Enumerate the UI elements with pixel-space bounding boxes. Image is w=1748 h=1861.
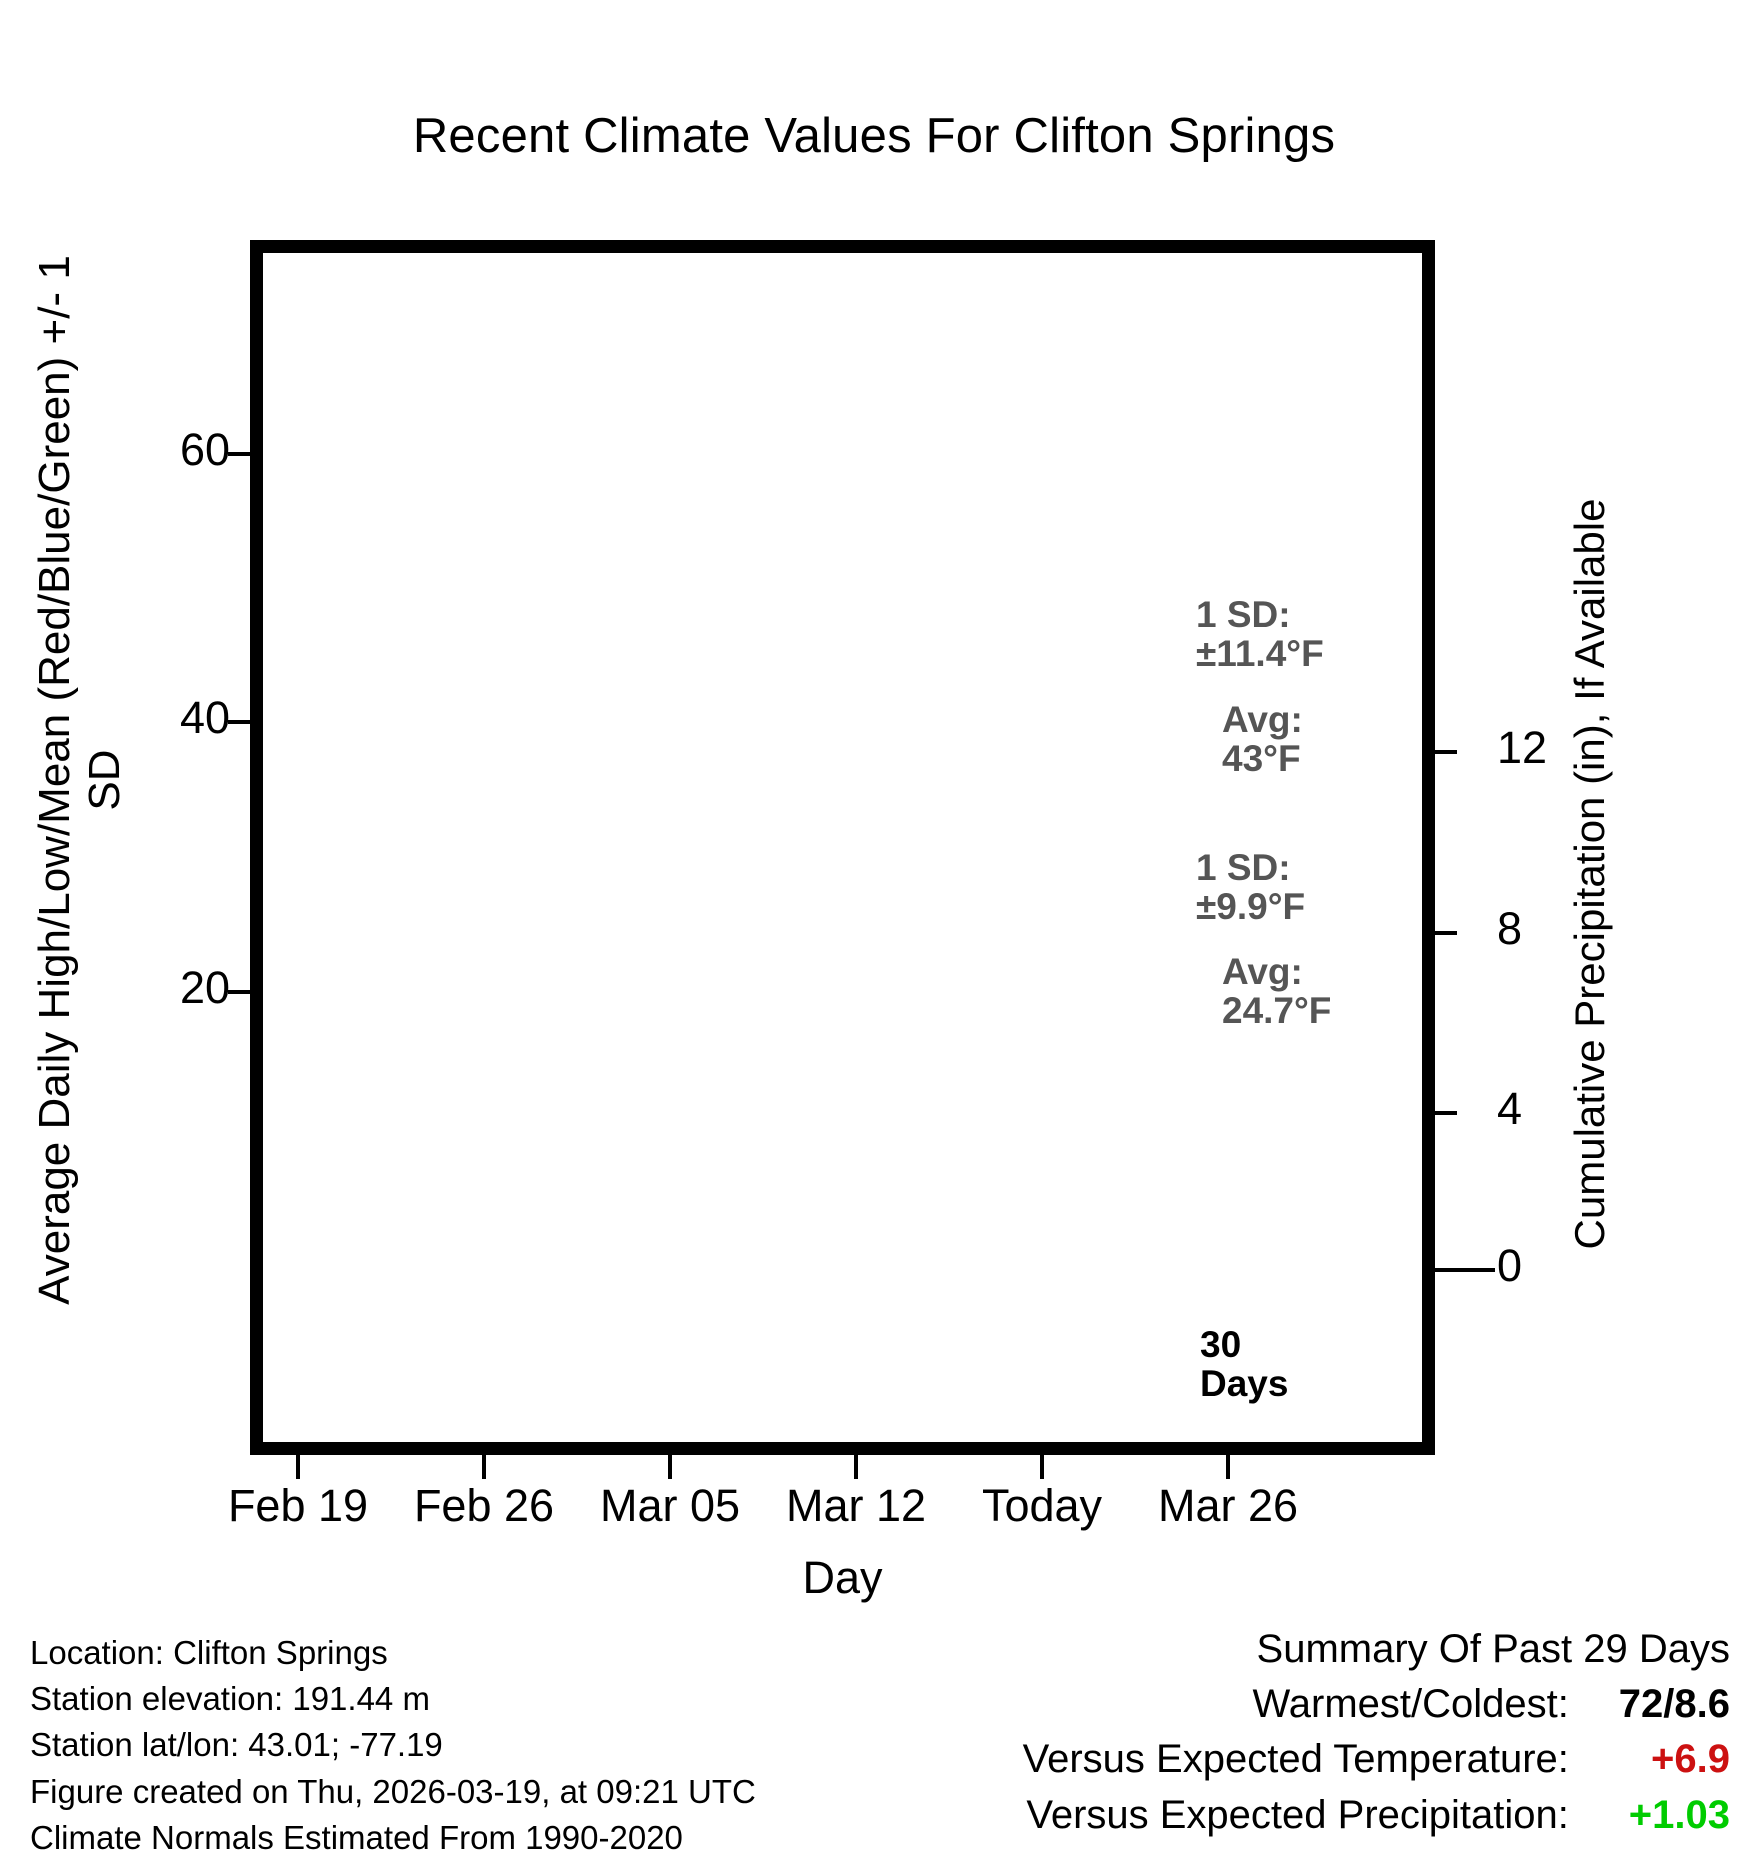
summary-label-versus-temp: Versus Expected Temperature: (1023, 1737, 1569, 1781)
y-tickmark-right-8 (1435, 931, 1457, 935)
y-tick-right-12: 12 (1497, 722, 1617, 774)
y-tick-left-40: 40 (80, 692, 230, 744)
climate-figure: Recent Climate Values For Clifton Spring… (0, 0, 1748, 1828)
high-avg-annotation: Avg: 43°F (1222, 700, 1303, 778)
footer-location: Location: Clifton Springs (30, 1630, 756, 1676)
summary-block: Summary Of Past 29 Days Warmest/Coldest:… (1023, 1622, 1730, 1843)
y-tickmark-right-0 (1435, 1268, 1495, 1272)
y-tick-right-0: 0 (1497, 1240, 1617, 1292)
x-tickmark-today (1040, 1455, 1044, 1479)
page-title: Recent Climate Values For Clifton Spring… (0, 108, 1748, 164)
x-tickmark-mar-12 (854, 1455, 858, 1479)
y-tickmark-right-4 (1435, 1111, 1457, 1115)
x-tickmark-mar-05 (668, 1455, 672, 1479)
summary-value-versus-temp: +6.9 (1580, 1732, 1730, 1787)
footer-elevation: Station elevation: 191.44 m (30, 1676, 756, 1722)
low-avg-annotation: Avg: 24.7°F (1222, 952, 1331, 1030)
x-axis-label: Day (560, 1552, 1125, 1604)
x-tickmark-mar-26 (1226, 1455, 1230, 1479)
y-tickmark-right-12 (1435, 750, 1457, 754)
y-tick-left-20: 20 (80, 962, 230, 1014)
high-sd-annotation: 1 SD: ±11.4°F (1196, 595, 1324, 673)
summary-value-versus-precip: +1.03 (1580, 1788, 1730, 1843)
summary-label-versus-precip: Versus Expected Precipitation: (1026, 1793, 1569, 1837)
x-tickmark-feb-19 (296, 1455, 300, 1479)
station-info-block: Location: Clifton Springs Station elevat… (30, 1630, 756, 1861)
x-tickmark-feb-26 (482, 1455, 486, 1479)
days-window-label: 30 Days (1200, 1325, 1288, 1403)
y-tickmark-40 (228, 720, 250, 724)
footer-normals: Climate Normals Estimated From 1990-2020 (30, 1815, 756, 1861)
summary-heading: Summary Of Past 29 Days (1023, 1622, 1730, 1677)
footer-created: Figure created on Thu, 2026-03-19, at 09… (30, 1769, 756, 1815)
footer-latlon: Station lat/lon: 43.01; -77.19 (30, 1722, 756, 1768)
summary-label-warmest-coldest: Warmest/Coldest: (1253, 1682, 1569, 1726)
y-axis-label-left: Average Daily High/Low/Mean (Red/Blue/Gr… (30, 230, 130, 1330)
summary-row-versus-temp: Versus Expected Temperature: +6.9 (1023, 1732, 1730, 1787)
summary-row-warmest-coldest: Warmest/Coldest: 72/8.6 (1023, 1677, 1730, 1732)
y-tickmark-20 (228, 990, 250, 994)
y-tickmark-60 (228, 452, 250, 456)
y-tick-left-60: 60 (80, 424, 230, 476)
low-sd-annotation: 1 SD: ±9.9°F (1196, 848, 1305, 926)
y-tick-right-4: 4 (1497, 1083, 1617, 1135)
summary-row-versus-precip: Versus Expected Precipitation: +1.03 (1023, 1788, 1730, 1843)
summary-value-warmest-coldest: 72/8.6 (1580, 1677, 1730, 1732)
y-tick-right-8: 8 (1497, 903, 1617, 955)
x-tick-mar-26: Mar 26 (1098, 1480, 1358, 1532)
